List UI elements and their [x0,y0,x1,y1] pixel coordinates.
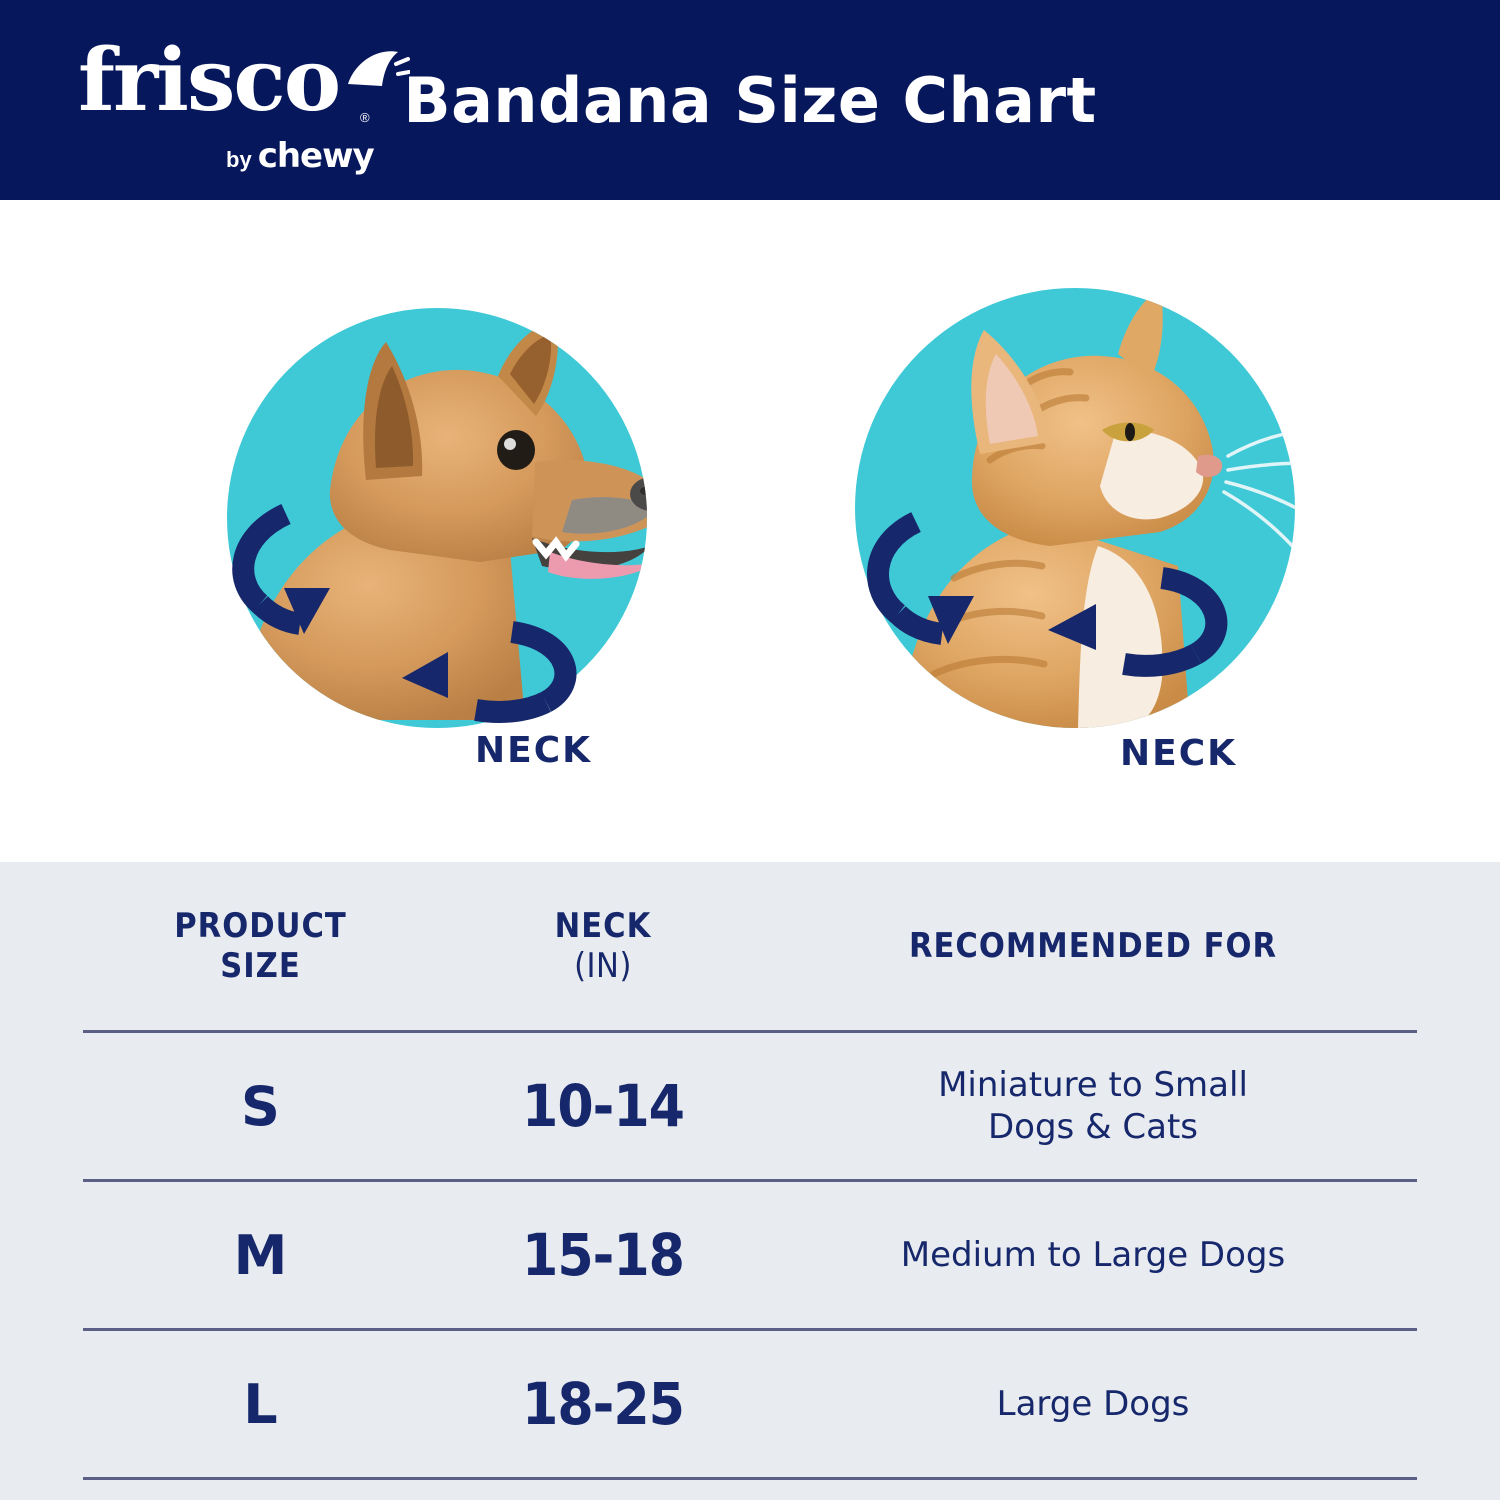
header-band: frisco ® by chewy Bandana Size Chart [0,0,1500,200]
size-chart-page: frisco ® by chewy Bandana Size Chart [0,0,1500,1500]
column-header-neck: NECK (in) [438,906,768,986]
cell-recommended: Medium to Large Dogs [768,1234,1418,1276]
row-divider [83,1477,1417,1480]
cell-size: M [83,1224,438,1287]
cell-recommended: Miniature to Small Dogs & Cats [768,1064,1418,1148]
table-row: L 18-25 Large Dogs [0,1331,1500,1477]
table-row: M 15-18 Medium to Large Dogs [0,1182,1500,1328]
cell-size: L [83,1373,438,1436]
table-header: PRODUCT SIZE NECK (in) RECOMMENDED FOR [0,862,1500,1030]
table-row: S 10-14 Miniature to Small Dogs & Cats [0,1033,1500,1179]
page-title: Bandana Size Chart [0,0,1500,200]
dog-illustration: NECK [180,250,740,810]
dog-artwork [180,250,740,810]
table-header-row: PRODUCT SIZE NECK (in) RECOMMENDED FOR [0,862,1500,1030]
dog-neck-label: NECK [475,730,592,771]
cell-neck: 15-18 [438,1221,768,1289]
cat-neck-label: NECK [1120,733,1237,774]
table-body: S 10-14 Miniature to Small Dogs & Cats M… [0,1033,1500,1480]
cell-size: S [83,1075,438,1138]
illustration-panel: NECK [0,200,1500,862]
cell-neck: 18-25 [438,1370,768,1438]
column-header-recommended-for: RECOMMENDED FOR [768,926,1418,966]
cat-illustration: NECK [830,278,1390,838]
cell-neck: 10-14 [438,1072,768,1140]
size-table: PRODUCT SIZE NECK (in) RECOMMENDED FOR [0,862,1500,1500]
cat-artwork [830,278,1390,838]
column-header-product-size: PRODUCT SIZE [83,906,438,986]
cell-recommended: Large Dogs [768,1383,1418,1425]
